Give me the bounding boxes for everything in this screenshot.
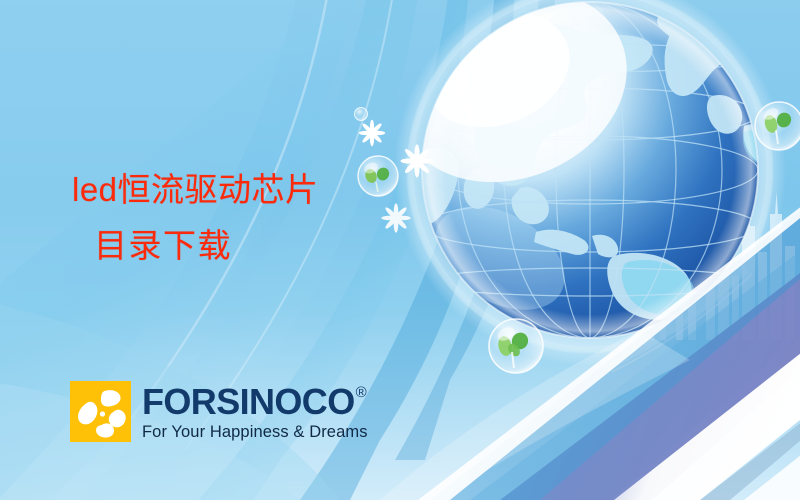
bubble-plain-icon (355, 108, 368, 121)
logo-text-block: FORSINOCO ® For Your Happiness & Dreams (142, 381, 368, 442)
promotional-banner: led恒流驱动芯片 目录下载 (0, 0, 800, 500)
logo-wordmark: FORSINOCO ® (142, 383, 368, 421)
forsinoco-logo[interactable]: FORSINOCO ® For Your Happiness & Dreams (70, 381, 368, 442)
bubble-sprout-icon (489, 319, 543, 373)
headline-line-1: led恒流驱动芯片 (72, 162, 402, 218)
headline-text: led恒流驱动芯片 目录下载 (72, 162, 402, 274)
bubble-sprout-icon (755, 102, 800, 150)
headline-line-2: 目录下载 (72, 218, 402, 274)
logo-wordmark-text: FORSINOCO (142, 383, 355, 421)
four-petal-pinwheel-icon (70, 381, 131, 442)
logo-tagline: For Your Happiness & Dreams (142, 422, 368, 442)
registered-trademark-icon: ® (356, 384, 366, 401)
